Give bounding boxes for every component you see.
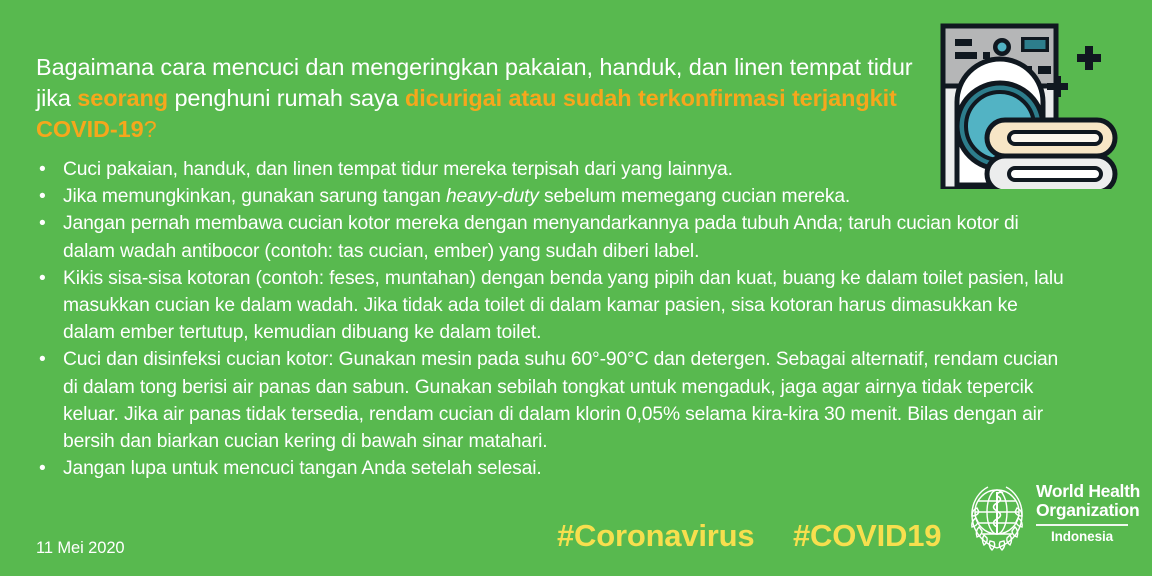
bullet-marker-icon: • [39, 156, 53, 183]
list-item-text: Cuci pakaian, handuk, dan linen tempat t… [63, 156, 1066, 183]
who-emblem-icon [966, 482, 1028, 552]
list-item-text: Jangan lupa untuk mencuci tangan Anda se… [63, 455, 1066, 482]
list-item: •Cuci dan disinfeksi cucian kotor: Gunak… [36, 346, 1066, 455]
who-logo: World Health Organization Indonesia [966, 482, 1126, 558]
list-item: •Jangan lupa untuk mencuci tangan Anda s… [36, 455, 1066, 482]
list-item-1-text-2: sebelum memegang cucian mereka. [539, 186, 850, 207]
hashtag-covid19: #COVID19 [793, 518, 941, 554]
page-title-question-mark: ? [144, 116, 157, 142]
bullet-marker-icon: • [39, 265, 53, 292]
list-item-5-text-0: Jangan lupa untuk mencuci tangan Anda se… [63, 458, 542, 479]
list-item: •Cuci pakaian, handuk, dan linen tempat … [36, 156, 1066, 183]
list-item-0-text-0: Cuci pakaian, handuk, dan linen tempat t… [63, 159, 733, 180]
list-item-text: Jangan pernah membawa cucian kotor merek… [63, 210, 1066, 264]
list-item-text: Kikis sisa-sisa kotoran (contoh: feses, … [63, 265, 1066, 347]
list-item-1-emphasis-1: heavy-duty [446, 186, 539, 207]
who-name-line-2: Organization [1036, 501, 1128, 520]
hashtag-coronavirus: #Coronavirus [557, 518, 754, 554]
list-item-2-text-0: Jangan pernah membawa cucian kotor merek… [63, 213, 1019, 261]
page-title-text-2: penghuni rumah saya [168, 85, 405, 111]
list-item-text: Jika memungkinkan, gunakan sarung tangan… [63, 183, 1066, 210]
list-item-text: Cuci dan disinfeksi cucian kotor: Gunaka… [63, 346, 1066, 455]
date-label: 11 Mei 2020 [36, 538, 125, 558]
list-item-4-text-0: Cuci dan disinfeksi cucian kotor: Gunaka… [63, 349, 1058, 452]
page-title: Bagaimana cara mencuci dan mengeringkan … [36, 52, 916, 145]
bullet-marker-icon: • [39, 183, 53, 210]
who-wordmark: World Health Organization Indonesia [1036, 482, 1128, 545]
who-divider [1036, 524, 1128, 526]
bullet-marker-icon: • [39, 455, 53, 482]
list-item-1-text-0: Jika memungkinkan, gunakan sarung tangan [63, 186, 446, 207]
page-title-highlight-1: seorang [77, 85, 168, 111]
who-country-label: Indonesia [1036, 529, 1128, 545]
who-name-line-1: World Health [1036, 482, 1128, 501]
list-item: •Jika memungkinkan, gunakan sarung tanga… [36, 183, 1066, 210]
bullet-marker-icon: • [39, 210, 53, 237]
bullet-list: •Cuci pakaian, handuk, dan linen tempat … [36, 156, 1066, 482]
list-item-3-text-0: Kikis sisa-sisa kotoran (contoh: feses, … [63, 268, 1064, 343]
bullet-marker-icon: • [39, 346, 53, 373]
list-item: •Kikis sisa-sisa kotoran (contoh: feses,… [36, 265, 1066, 347]
list-item: •Jangan pernah membawa cucian kotor mere… [36, 210, 1066, 264]
infographic-slide: Bagaimana cara mencuci dan mengeringkan … [0, 0, 1152, 576]
